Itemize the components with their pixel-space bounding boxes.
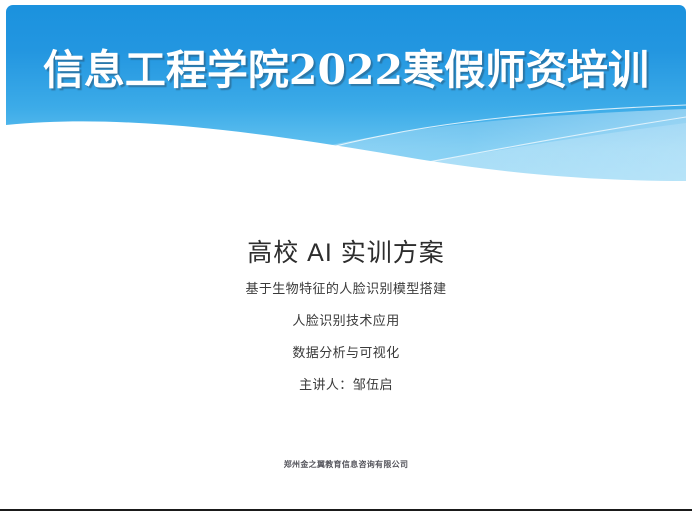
header-banner: 信息工程学院2022寒假师资培训 [6, 5, 686, 181]
slide-content: 高校 AI 实训方案 基于生物特征的人脸识别模型搭建 人脸识别技术应用 数据分析… [0, 236, 692, 393]
banner-title: 信息工程学院2022寒假师资培训 [6, 5, 686, 127]
company-name: 郑州金之翼教育信息咨询有限公司 [0, 459, 692, 470]
subtitle-line-3: 数据分析与可视化 [0, 344, 692, 361]
subtitle-line-1: 基于生物特征的人脸识别模型搭建 [0, 280, 692, 297]
presenter-line: 主讲人：邹伍启 [0, 376, 692, 393]
slide-footer: 郑州金之翼教育信息咨询有限公司 [0, 459, 692, 470]
presentation-slide: 信息工程学院2022寒假师资培训 高校 AI 实训方案 基于生物特征的人脸识别模… [0, 0, 692, 511]
main-heading: 高校 AI 实训方案 [0, 236, 692, 270]
subtitle-line-2: 人脸识别技术应用 [0, 312, 692, 329]
